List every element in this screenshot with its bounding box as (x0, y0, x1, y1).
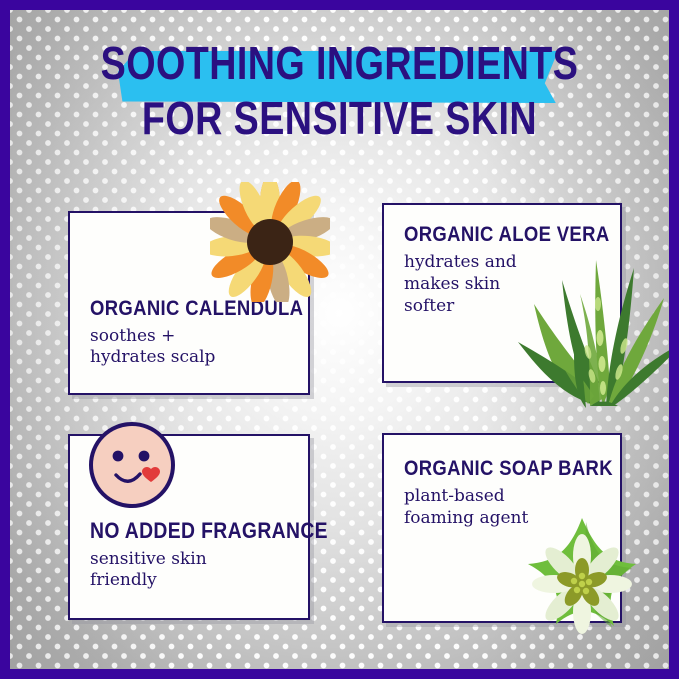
card-body: sensitive skin friendly (90, 549, 288, 593)
infographic-poster: SOOTHING INGREDIENTS FOR SENSITIVE SKIN … (0, 0, 679, 679)
card-body: soothes + hydrates scalp (90, 326, 288, 370)
poster-title: SOOTHING INGREDIENTS FOR SENSITIVE SKIN (10, 40, 669, 141)
card-heading: ORGANIC SOAP BARK (404, 457, 576, 481)
card-no-added-fragrance: NO ADDED FRAGRANCE sensitive skin friend… (68, 434, 310, 620)
card-body: plant-based foaming agent (404, 486, 600, 530)
card-heading: NO ADDED FRAGRANCE (90, 518, 264, 544)
card-organic-aloe-vera: ORGANIC ALOE VERA hydrates and makes ski… (382, 203, 622, 383)
card-organic-soap-bark: ORGANIC SOAP BARK plant-based foaming ag… (382, 433, 622, 623)
card-heading: ORGANIC ALOE VERA (404, 223, 576, 247)
title-line-1: SOOTHING INGREDIENTS (69, 40, 609, 86)
title-line-2: FOR SENSITIVE SKIN (69, 95, 609, 141)
card-organic-calendula: ORGANIC CALENDULA soothes + hydrates sca… (68, 211, 310, 395)
card-body: hydrates and makes skin softer (404, 252, 600, 317)
card-heading: ORGANIC CALENDULA (90, 297, 264, 321)
